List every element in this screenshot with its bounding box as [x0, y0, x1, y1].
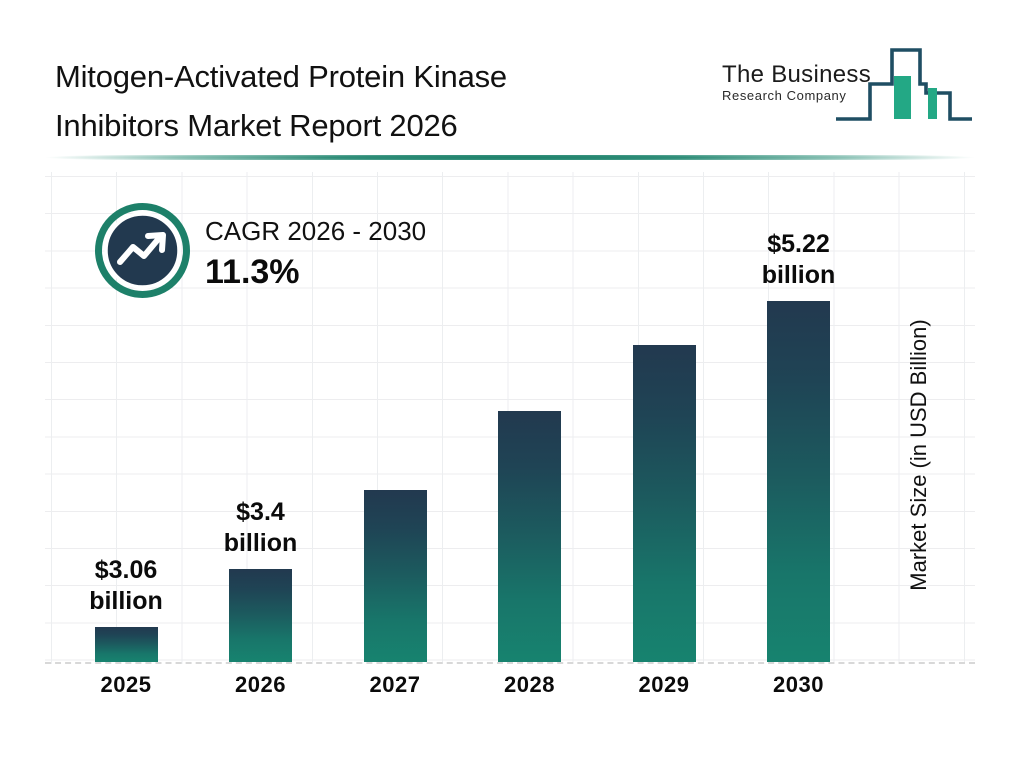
page-title-line-2: Inhibitors Market Report 2026: [55, 101, 675, 150]
x-axis-tick-2030: 2030: [739, 672, 859, 698]
chart-page: Mitogen-Activated Protein Kinase Inhibit…: [0, 0, 1024, 768]
header-divider: [45, 155, 975, 160]
bar-2029: [633, 345, 696, 662]
bar-value-label-2030: $5.22billion: [739, 229, 859, 291]
y-axis-title: Market Size (in USD Billion): [888, 0, 928, 255]
y-axis-title-text: Market Size (in USD Billion): [906, 255, 932, 655]
bar-2025: [95, 627, 158, 662]
bar-value-amount-2030: $5.22: [739, 229, 859, 260]
header: Mitogen-Activated Protein Kinase Inhibit…: [0, 0, 1024, 160]
cagr-badge: CAGR 2026 - 2030 11.3%: [95, 203, 515, 308]
bar-value-amount-2025: $3.06: [66, 555, 186, 586]
page-title: Mitogen-Activated Protein Kinase Inhibit…: [55, 52, 675, 150]
bar-value-unit-2025: billion: [66, 586, 186, 617]
bar-value-unit-2026: billion: [201, 528, 321, 559]
x-axis-tick-2026: 2026: [201, 672, 321, 698]
bar-value-unit-2030: billion: [739, 260, 859, 291]
x-axis-tick-2025: 2025: [66, 672, 186, 698]
bar-value-label-2026: $3.4billion: [201, 497, 321, 559]
bar-2027: [364, 490, 427, 662]
x-axis-tick-2029: 2029: [604, 672, 724, 698]
cagr-period-label: CAGR 2026 - 2030: [205, 213, 426, 249]
trending-up-arrow-icon: [95, 203, 190, 298]
cagr-value: 11.3%: [205, 249, 426, 295]
bar-2028: [498, 411, 561, 662]
bar-value-amount-2026: $3.4: [201, 497, 321, 528]
company-logo: The Business Research Company: [722, 36, 974, 132]
page-title-line-1: Mitogen-Activated Protein Kinase: [55, 52, 675, 101]
chart-baseline: [45, 662, 975, 664]
x-axis-tick-2028: 2028: [470, 672, 590, 698]
bar-2026: [229, 569, 292, 662]
bar-2030: [767, 301, 830, 662]
bar-value-label-2025: $3.06billion: [66, 555, 186, 617]
x-axis-tick-2027: 2027: [335, 672, 455, 698]
cagr-text-block: CAGR 2026 - 2030 11.3%: [205, 213, 426, 295]
